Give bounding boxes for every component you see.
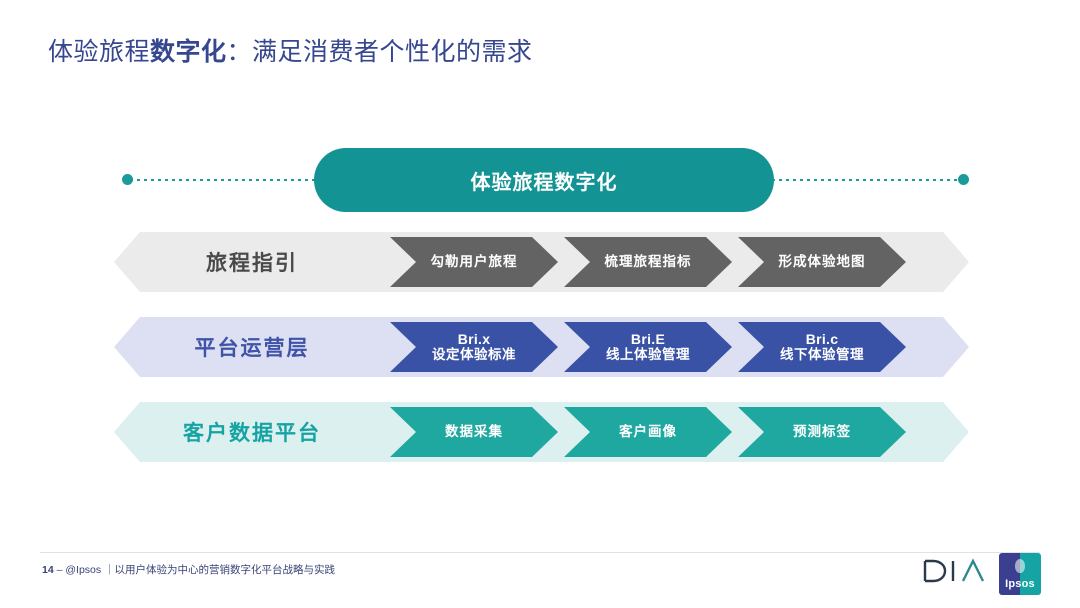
- step-title: 形成体验地图: [779, 254, 866, 270]
- layer-label: 客户数据平台: [114, 417, 390, 447]
- footer-caption: 14 – @Ipsos ｜以用户体验为中心的营销数字化平台战略与实践: [42, 562, 335, 577]
- page-title: 体验旅程数字化：满足消费者个性化的需求: [48, 32, 533, 68]
- connector-dot-right-icon: [958, 174, 969, 185]
- layer-band-customer-data-platform: 客户数据平台 数据采集 客户画像 预测标签: [114, 402, 969, 462]
- layer-step-track: 勾勒用户旅程 梳理旅程指标 形成体验地图: [390, 232, 969, 292]
- footer-separator: –: [57, 564, 63, 576]
- page-title-emphasis: 数字化: [150, 38, 227, 66]
- footer-text: @Ipsos ｜以用户体验为中心的营销数字化平台战略与实践: [65, 564, 335, 576]
- step-chevron[interactable]: 梳理旅程指标: [564, 237, 732, 287]
- page-title-part2: ：满足消费者个性化的需求: [227, 38, 533, 66]
- layer-band-journey-guidance: 旅程指引 勾勒用户旅程 梳理旅程指标 形成体验地图: [114, 232, 969, 292]
- step-chevron[interactable]: 形成体验地图: [738, 237, 906, 287]
- layer-label: 旅程指引: [114, 247, 390, 277]
- step-title: 客户画像: [619, 424, 677, 440]
- dia-logo: [923, 558, 987, 584]
- hero-row: 体验旅程数字化: [0, 148, 1080, 212]
- step-chevron[interactable]: 客户画像: [564, 407, 732, 457]
- step-chevron[interactable]: Bri.E 线上体验管理: [564, 322, 732, 372]
- step-title: 数据采集: [445, 424, 503, 440]
- step-chevron[interactable]: Bri.c 线下体验管理: [738, 322, 906, 372]
- step-title: Bri.x: [458, 331, 491, 348]
- footer-divider: [40, 552, 1040, 553]
- step-title: Bri.c: [806, 331, 839, 348]
- step-title: 勾勒用户旅程: [431, 254, 518, 270]
- ipsos-logo: Ipsos: [999, 553, 1041, 595]
- hero-pill-label: 体验旅程数字化: [471, 166, 618, 195]
- connector-line-left: [130, 179, 322, 181]
- step-subtitle: 线上体验管理: [606, 347, 690, 363]
- step-subtitle: 线下体验管理: [780, 347, 864, 363]
- step-chevron[interactable]: Bri.x 设定体验标准: [390, 322, 558, 372]
- step-chevron[interactable]: 勾勒用户旅程: [390, 237, 558, 287]
- ipsos-logo-label: Ipsos: [999, 553, 1041, 595]
- layer-step-track: Bri.x 设定体验标准 Bri.E 线上体验管理 Bri.c 线下体验管理: [390, 317, 969, 377]
- step-chevron[interactable]: 数据采集: [390, 407, 558, 457]
- footer-page-number: 14: [42, 564, 54, 576]
- layer-band-platform-operations: 平台运营层 Bri.x 设定体验标准 Bri.E 线上体验管理 Bri.c 线下…: [114, 317, 969, 377]
- step-title: Bri.E: [631, 331, 665, 348]
- step-subtitle: 设定体验标准: [432, 347, 516, 363]
- layer-label: 平台运营层: [114, 332, 390, 362]
- page-title-part1: 体验旅程: [48, 38, 150, 66]
- layer-step-track: 数据采集 客户画像 预测标签: [390, 402, 969, 462]
- hero-pill: 体验旅程数字化: [314, 148, 774, 212]
- step-title: 预测标签: [793, 424, 851, 440]
- step-title: 梳理旅程指标: [605, 254, 692, 270]
- connector-line-right: [772, 179, 964, 181]
- step-chevron[interactable]: 预测标签: [738, 407, 906, 457]
